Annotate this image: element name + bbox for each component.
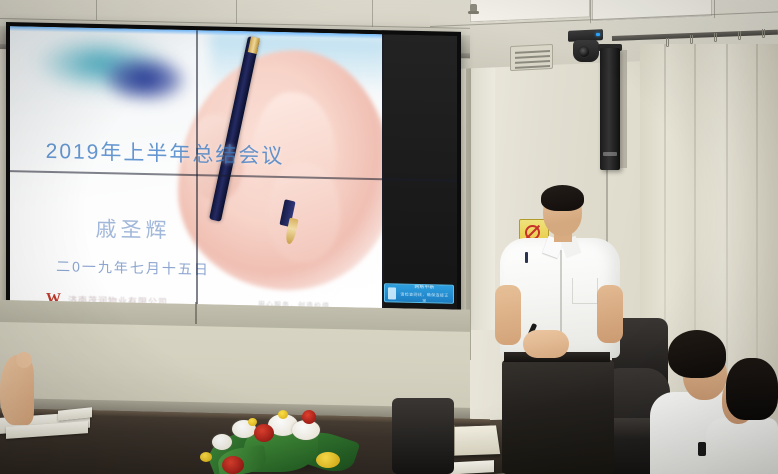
camera-lens-icon bbox=[578, 46, 590, 58]
wristwatch-icon bbox=[698, 442, 706, 456]
ceiling-grid bbox=[96, 0, 97, 20]
slide-date: 二0一九年七月十五日 bbox=[10, 255, 256, 280]
flower-accent bbox=[200, 452, 212, 462]
wall-panel-seam bbox=[195, 302, 197, 324]
ceiling-tile bbox=[470, 0, 590, 22]
presenter-hands bbox=[523, 330, 569, 358]
curtain-hook bbox=[738, 31, 741, 40]
ceiling-grid bbox=[714, 0, 715, 18]
network-toast-notification[interactable]: 网络中断 请检查网线，确保连接正常 bbox=[384, 283, 454, 304]
attendee-hair bbox=[668, 330, 726, 378]
flower-accent bbox=[316, 452, 340, 468]
flower-rose bbox=[302, 410, 316, 424]
camera-led-icon bbox=[596, 33, 600, 36]
slide-presenter-name: 戚圣辉 bbox=[10, 211, 256, 246]
flower-accent bbox=[248, 418, 257, 426]
fire-sprinkler-icon bbox=[470, 4, 477, 13]
presenter-hair bbox=[541, 185, 584, 211]
video-wall-display[interactable]: 2019年上半年总结会议 戚圣辉 二0一九年七月十五日 W 济南茂润物业有限公司… bbox=[6, 22, 461, 320]
presenter-arm bbox=[597, 285, 623, 343]
door-panel bbox=[471, 30, 495, 330]
slide-title: 2019年上半年总结会议 bbox=[10, 134, 320, 171]
panel-seam bbox=[196, 30, 198, 310]
pen-clip-icon bbox=[525, 252, 528, 263]
office-chair[interactable] bbox=[392, 398, 454, 474]
flower-rose bbox=[222, 456, 244, 474]
presenter-trousers bbox=[502, 360, 614, 474]
panel-seam bbox=[382, 34, 384, 314]
video-wall-dead-panel bbox=[382, 34, 457, 316]
video-wall-screen: 2019年上半年总结会议 戚圣辉 二0一九年七月十五日 W 济南茂润物业有限公司… bbox=[10, 26, 457, 316]
attendee-body bbox=[706, 418, 778, 474]
flower-lily bbox=[212, 434, 232, 450]
shirt-pocket bbox=[572, 278, 598, 304]
toast-title: 网络中断 bbox=[399, 283, 450, 290]
curtain-hook bbox=[762, 29, 765, 38]
flower-rose bbox=[254, 424, 274, 442]
ceiling-grid bbox=[236, 0, 237, 24]
slide-photo-blur bbox=[105, 56, 185, 102]
conference-room-photo: 2019年上半年总结会议 戚圣辉 二0一九年七月十五日 W 济南茂润物业有限公司… bbox=[0, 0, 778, 474]
ceiling-grid bbox=[372, 0, 373, 27]
presenter-arm bbox=[495, 285, 521, 345]
flower-accent bbox=[278, 410, 288, 419]
curtain-hook bbox=[714, 33, 717, 42]
foreground-thumb bbox=[16, 352, 32, 368]
air-vent-icon bbox=[510, 44, 553, 71]
speaker-logo bbox=[603, 152, 617, 156]
wall-pillar bbox=[620, 50, 627, 168]
curtain-hook bbox=[690, 35, 693, 44]
toast-message: 请检查网线，确保连接正常 bbox=[399, 291, 450, 304]
toast-icon bbox=[388, 287, 396, 299]
curtain-hook bbox=[666, 38, 669, 47]
attendee-hair bbox=[726, 358, 778, 420]
ceiling-grid bbox=[590, 0, 591, 23]
